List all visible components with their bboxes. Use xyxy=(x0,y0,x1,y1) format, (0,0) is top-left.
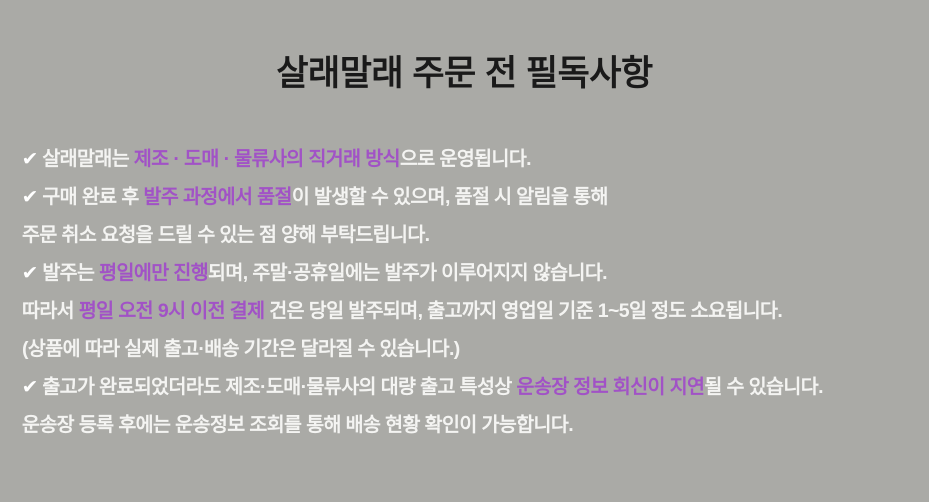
notice-text: 되며, 주말·공휴일에는 발주가 이루어지지 않습니다. xyxy=(208,262,607,284)
notice-text: 운송장 등록 후에는 운송정보 조회를 통해 배송 현황 확인이 가능합니다. xyxy=(22,414,573,436)
notice-line: ✔출고가 완료되었더라도 제조·도매·물류사의 대량 출고 특성상 운송장 정보… xyxy=(22,368,922,406)
notice-line: ✔살래말래는 제조 · 도매 · 물류사의 직거래 방식으로 운영됩니다. xyxy=(22,140,922,178)
page-title: 살래말래 주문 전 필독사항 xyxy=(0,52,929,96)
notice-text: 구매 완료 후 xyxy=(42,186,143,208)
notice-text: 으로 운영됩니다. xyxy=(400,148,531,170)
highlighted-text: 제조 · 도매 · 물류사의 직거래 방식 xyxy=(134,148,400,170)
notice-line: ✔구매 완료 후 발주 과정에서 품절이 발생할 수 있으며, 품절 시 알림을… xyxy=(22,178,922,216)
notice-text: 될 수 있습니다. xyxy=(704,376,823,398)
check-icon: ✔ xyxy=(22,179,38,217)
notice-text: 발주는 xyxy=(42,262,99,284)
notice-text: 이 발생할 수 있으며, 품절 시 알림을 통해 xyxy=(292,186,608,208)
notice-line: (상품에 따라 실제 출고·배송 기간은 달라질 수 있습니다.) xyxy=(22,330,922,368)
notice-text: 따라서 xyxy=(22,300,79,322)
notice-text: (상품에 따라 실제 출고·배송 기간은 달라질 수 있습니다.) xyxy=(22,338,460,360)
notice-line: 따라서 평일 오전 9시 이전 결제 건은 당일 발주되며, 출고까지 영업일 … xyxy=(22,292,922,330)
notice-line-list: ✔살래말래는 제조 · 도매 · 물류사의 직거래 방식으로 운영됩니다.✔구매… xyxy=(22,140,922,444)
highlighted-text: 발주 과정에서 품절 xyxy=(143,186,291,208)
notice-text: 살래말래는 xyxy=(42,148,134,170)
notice-line: 주문 취소 요청을 드릴 수 있는 점 양해 부탁드립니다. xyxy=(22,216,922,254)
check-icon: ✔ xyxy=(22,255,38,293)
notice-card: 살래말래 주문 전 필독사항 ✔살래말래는 제조 · 도매 · 물류사의 직거래… xyxy=(0,0,929,502)
notice-text: 주문 취소 요청을 드릴 수 있는 점 양해 부탁드립니다. xyxy=(22,224,430,246)
highlighted-text: 평일 오전 9시 이전 결제 xyxy=(79,300,265,322)
notice-line: ✔발주는 평일에만 진행되며, 주말·공휴일에는 발주가 이루어지지 않습니다. xyxy=(22,254,922,292)
notice-text: 건은 당일 발주되며, 출고까지 영업일 기준 1~5일 정도 소요됩니다. xyxy=(264,300,782,322)
check-icon: ✔ xyxy=(22,141,38,179)
notice-line: 운송장 등록 후에는 운송정보 조회를 통해 배송 현황 확인이 가능합니다. xyxy=(22,406,922,444)
highlighted-text: 평일에만 진행 xyxy=(99,262,208,284)
notice-text: 출고가 완료되었더라도 제조·도매·물류사의 대량 출고 특성상 xyxy=(42,376,516,398)
highlighted-text: 운송장 정보 회신이 지연 xyxy=(517,376,705,398)
check-icon: ✔ xyxy=(22,369,38,407)
